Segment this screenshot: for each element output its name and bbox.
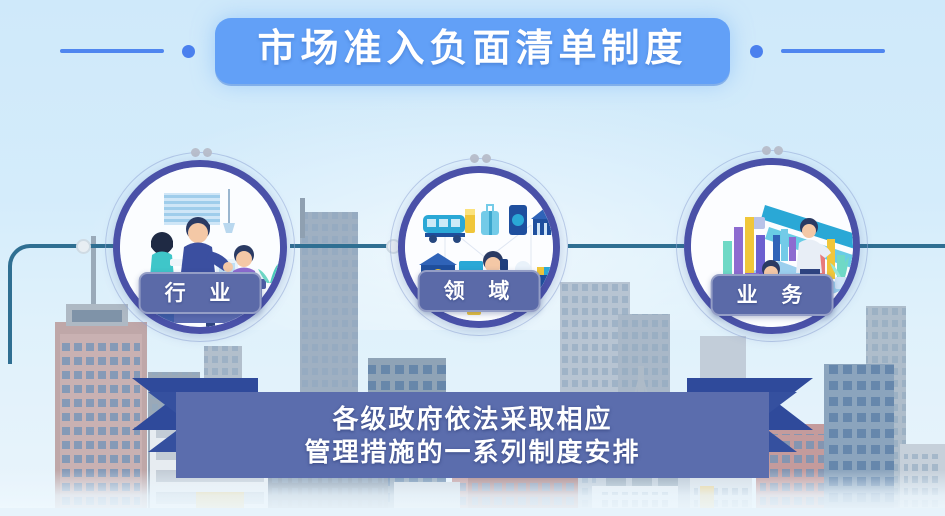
node-business[interactable]: 业 务: [676, 150, 868, 342]
summary-ribbon: 各级政府依法采取相应 管理措施的一系列制度安排: [0, 378, 945, 478]
page-title: 市场准入负面清单制度: [257, 24, 687, 74]
orbit-dot-business-a: [762, 146, 771, 155]
node-label-industry: 行 业: [161, 282, 240, 305]
pipe-circle3-to-right: [856, 244, 945, 248]
ribbon-line-2: 管理措施的一系列制度安排: [304, 436, 640, 468]
title-rule-right: [781, 49, 885, 53]
title-dot-left: [182, 45, 195, 58]
label-plate-domain: 领 域: [418, 270, 541, 312]
title-rule-left: [60, 49, 164, 53]
label-plate-industry: 行 业: [139, 272, 262, 314]
orbit-dot-industry-b: [203, 148, 212, 157]
node-label-business: 业 务: [733, 284, 812, 307]
orbit-dot-domain-b: [482, 154, 491, 163]
orbit-dot-industry-a: [191, 148, 200, 157]
pipe-node-left: [76, 239, 91, 254]
pipe-circle2-to-circle3: [568, 244, 684, 248]
page-title-row: 市场准入负面清单制度: [0, 20, 945, 82]
title-dot-right: [750, 45, 763, 58]
infographic-canvas: 市场准入负面清单制度: [0, 0, 945, 516]
ground-strip: [0, 508, 945, 516]
label-plate-business: 业 务: [711, 274, 834, 316]
orbit-dot-business-b: [774, 146, 783, 155]
node-domain[interactable]: $: [390, 158, 568, 336]
node-industry[interactable]: 行 业: [105, 152, 295, 342]
pipe-elbow-left: [8, 244, 48, 364]
ribbon-text-group: 各级政府依法采取相应 管理措施的一系列制度安排: [176, 392, 769, 478]
ribbon-line-1: 各级政府依法采取相应: [332, 403, 612, 435]
node-label-domain: 领 域: [440, 280, 519, 303]
orbit-dot-domain-a: [470, 154, 479, 163]
page-title-plate: 市场准入负面清单制度: [215, 18, 729, 84]
